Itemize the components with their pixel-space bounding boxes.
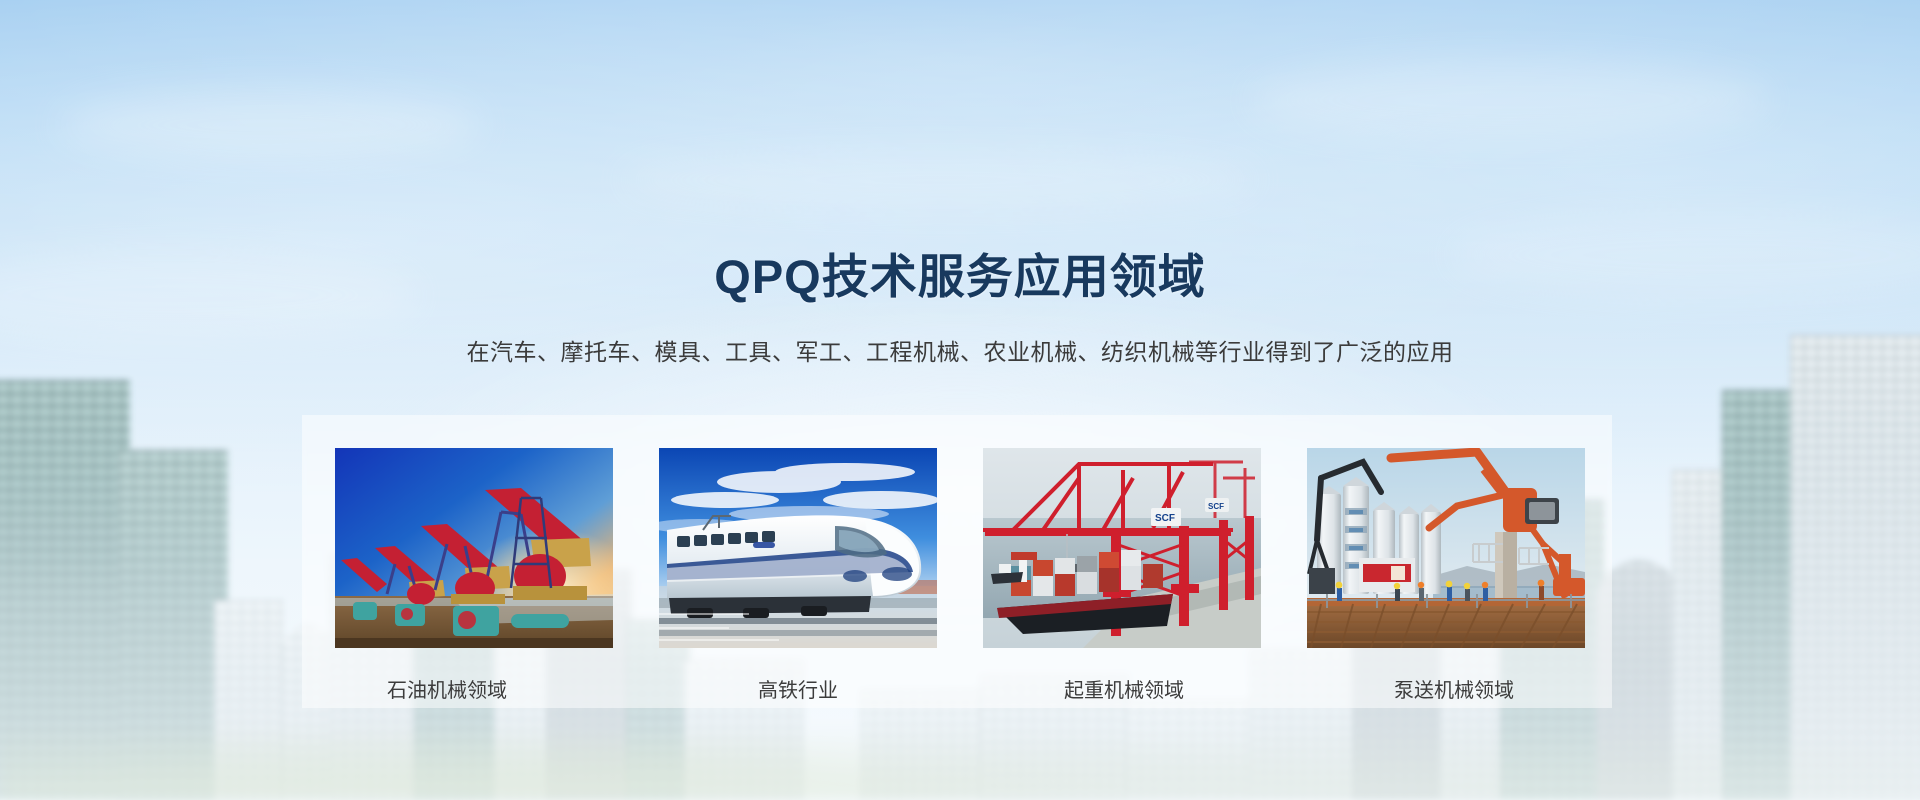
page-subtitle: 在汽车、摩托车、模具、工具、军工、工程机械、农业机械、纺织机械等行业得到了广泛的…: [0, 333, 1920, 367]
svg-text:SCF: SCF: [1155, 513, 1175, 524]
card-label: 泵送机械领域: [1307, 674, 1585, 703]
cloud: [620, 150, 1260, 210]
cloud: [1250, 60, 1770, 140]
port-cranes-image[interactable]: SCF SCF: [983, 448, 1261, 648]
list-item[interactable]: 石油机械领域: [335, 448, 613, 703]
svg-text:SCF: SCF: [1208, 502, 1224, 511]
cloud: [60, 90, 480, 160]
oil-pumpjacks-image[interactable]: [335, 448, 613, 648]
list-item[interactable]: 泵送机械领域: [1307, 448, 1585, 703]
card-label: 石油机械领域: [335, 674, 613, 703]
card-label: 起重机械领域: [983, 674, 1261, 703]
application-panel: 石油机械领域: [302, 415, 1612, 708]
page-title: QPQ技术服务应用领域: [0, 238, 1920, 307]
concrete-pump-image[interactable]: [1307, 448, 1585, 648]
hero-banner: QPQ技术服务应用领域 在汽车、摩托车、模具、工具、军工、工程机械、农业机械、纺…: [0, 0, 1920, 800]
list-item[interactable]: SCF SCF: [983, 448, 1261, 703]
list-item[interactable]: 高铁行业: [659, 448, 937, 703]
card-list: 石油机械领域: [335, 448, 1585, 703]
card-label: 高铁行业: [659, 674, 937, 703]
high-speed-train-image[interactable]: [659, 448, 937, 648]
